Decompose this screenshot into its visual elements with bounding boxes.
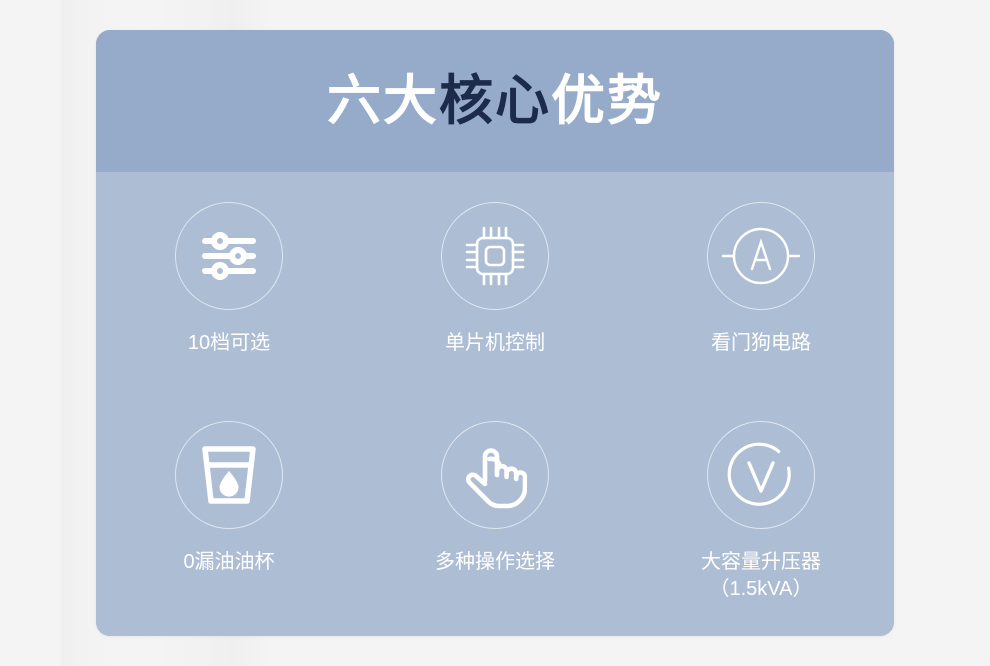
feature-label: 0漏油油杯 <box>183 549 274 576</box>
feature-item[interactable]: 单片机控制 <box>362 198 628 417</box>
icon-circle <box>175 421 283 529</box>
feature-label: 看门狗电路 <box>711 330 811 357</box>
icon-circle <box>175 202 283 310</box>
voltmeter-icon <box>722 436 800 514</box>
card-body: 10档可选 <box>96 172 894 636</box>
oil-cup-icon <box>200 443 258 507</box>
ammeter-icon <box>720 215 802 297</box>
feature-item[interactable]: 大容量升压器 （1.5kVA） <box>628 417 894 636</box>
title-part1: 六大 <box>327 71 439 131</box>
feature-item[interactable]: 多种操作选择 <box>362 417 628 636</box>
feature-item[interactable]: 10档可选 <box>96 198 362 417</box>
feature-item[interactable]: 看门狗电路 <box>628 198 894 417</box>
title-accent: 核心 <box>439 71 551 131</box>
features-card: 六大核心优势 <box>96 30 894 636</box>
icon-circle <box>441 202 549 310</box>
sliders-icon <box>197 224 261 288</box>
feature-label: 大容量升压器 （1.5kVA） <box>701 549 821 603</box>
feature-label: 10档可选 <box>188 330 270 357</box>
feature-label: 多种操作选择 <box>435 549 555 576</box>
title-part2: 优势 <box>551 71 663 131</box>
feature-label: 单片机控制 <box>445 330 545 357</box>
feature-item[interactable]: 0漏油油杯 <box>96 417 362 636</box>
icon-circle <box>707 421 815 529</box>
page-title: 六大核心优势 <box>327 74 663 128</box>
card-header: 六大核心优势 <box>96 30 894 172</box>
features-grid: 10档可选 <box>96 198 894 636</box>
microchip-icon <box>462 223 528 289</box>
icon-circle <box>441 421 549 529</box>
icon-circle <box>707 202 815 310</box>
hand-tap-icon <box>463 441 527 509</box>
